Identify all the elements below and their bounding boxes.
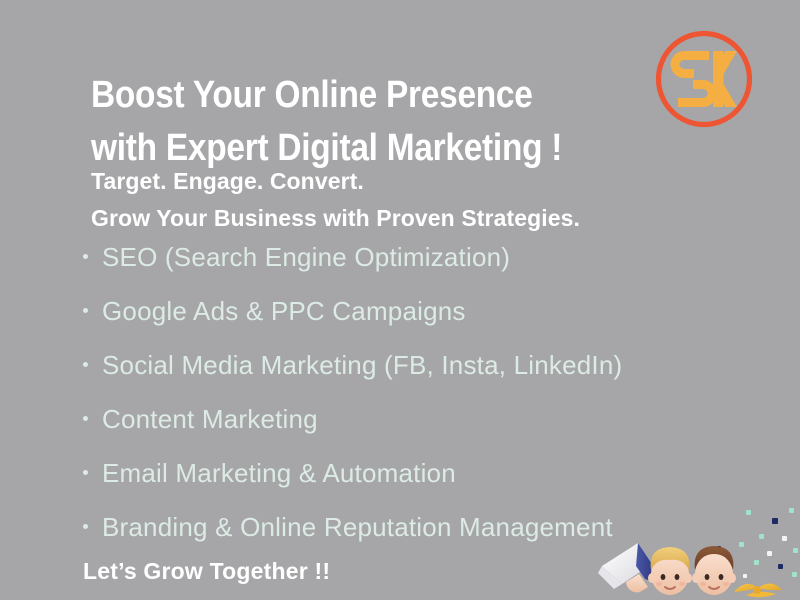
list-item-label: Branding & Online Reputation Management (102, 512, 613, 542)
list-item-label: Email Marketing & Automation (102, 458, 456, 488)
megaphone-and-team-illustration (596, 496, 800, 600)
list-item-label: Social Media Marketing (FB, Insta, Linke… (102, 350, 622, 380)
list-item-label: Google Ads & PPC Campaigns (102, 296, 466, 326)
bullet-dot-icon (83, 254, 88, 259)
list-item: Content Marketing (80, 401, 780, 455)
marketing-slide: Boost Your Online Presence with Expert D… (0, 0, 800, 600)
list-item-label: Content Marketing (102, 404, 318, 434)
bullet-dot-icon (83, 362, 88, 367)
gold-ribbon (734, 583, 782, 597)
list-item-label: SEO (Search Engine Optimization) (102, 242, 510, 272)
subheading-block: Target. Engage. Convert. Grow Your Busin… (91, 163, 580, 237)
list-item: SEO (Search Engine Optimization) (80, 239, 780, 293)
subheading-line-1: Target. Engage. Convert. (91, 163, 580, 200)
logo-monogram-sk (671, 51, 737, 107)
character-blonde (648, 547, 692, 595)
sk-monogram-logo (653, 28, 755, 130)
list-item: Social Media Marketing (FB, Insta, Linke… (80, 347, 780, 401)
bullet-dot-icon (83, 524, 88, 529)
closing-line: Let’s Grow Together !! (83, 556, 330, 586)
list-item: Google Ads & PPC Campaigns (80, 293, 780, 347)
headline: Boost Your Online Presence with Expert D… (91, 69, 584, 175)
megaphone-icon (598, 543, 658, 592)
bullet-dot-icon (83, 308, 88, 313)
logo-ring (659, 34, 750, 125)
bullet-dot-icon (83, 470, 88, 475)
bullet-dot-icon (83, 416, 88, 421)
character-brunette (692, 546, 736, 595)
subheading-line-2: Grow Your Business with Proven Strategie… (91, 200, 580, 237)
